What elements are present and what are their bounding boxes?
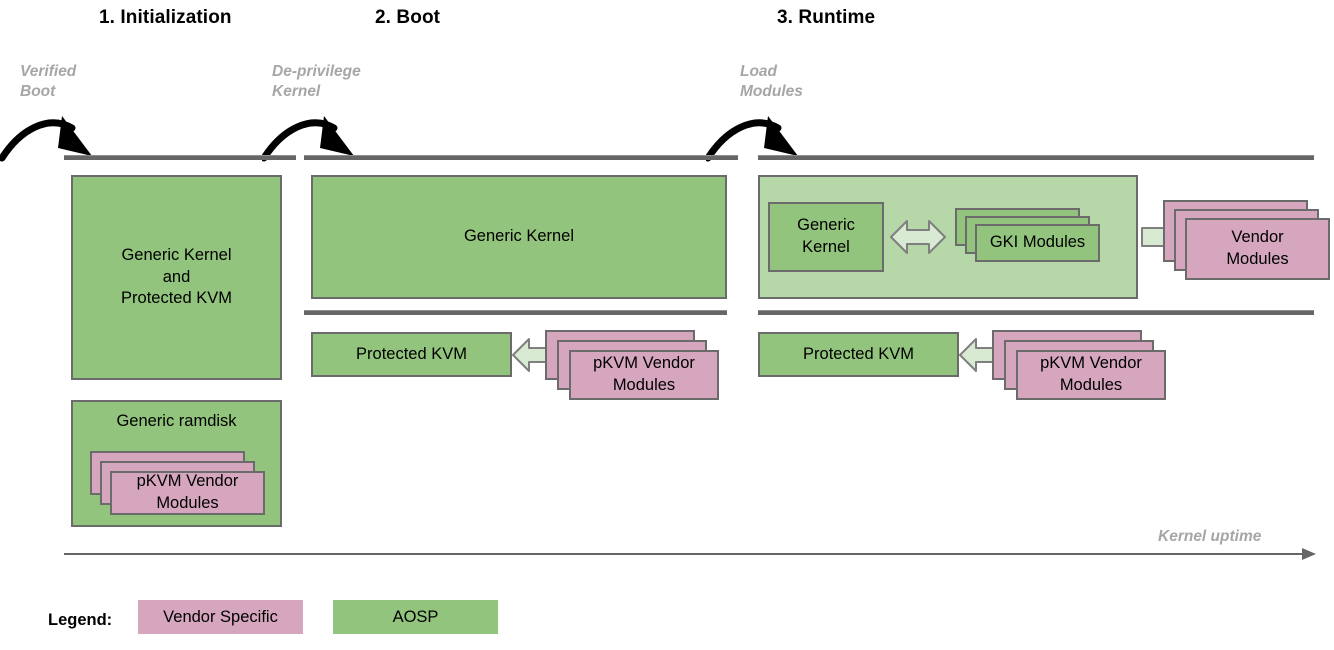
phase-title-boot: 2. Boot	[375, 7, 440, 29]
transition-label-verified-boot: Verified Boot	[20, 62, 130, 103]
transition-label-de-privilege-kernel: De-privilege Kernel	[272, 62, 402, 103]
stack-layer-front: pKVM Vendor Modules	[569, 350, 719, 400]
transition-label-load-modules: Load Modules	[740, 62, 850, 103]
phase-title-initialization: 1. Initialization	[99, 7, 232, 29]
separator-top-initialization	[64, 155, 296, 160]
legend-swatch-vendor-specific: Vendor Specific	[138, 600, 303, 634]
uptime-axis-arrow-icon	[64, 546, 1318, 562]
separator-mid-runtime	[758, 310, 1314, 315]
separator-mid-boot	[304, 310, 727, 315]
legend-title: Legend:	[48, 611, 112, 630]
block-boot-protected-kvm: Protected KVM	[311, 332, 512, 377]
stack-init-pkvm-vendor-modules: pKVM Vendor Modules	[90, 451, 265, 515]
stack-boot-pkvm-vendor-modules: pKVM Vendor Modules	[545, 330, 735, 400]
stack-runtime-vendor-modules: Vendor Modules	[1163, 200, 1334, 285]
block-generic-kernel-and-protected-kvm: Generic Kernel and Protected KVM	[71, 175, 282, 380]
block-generic-ramdisk-label: Generic ramdisk	[73, 412, 280, 431]
uptime-axis-label: Kernel uptime	[1158, 528, 1261, 546]
separator-top-runtime	[758, 155, 1314, 160]
block-boot-generic-kernel: Generic Kernel	[311, 175, 727, 299]
block-runtime-protected-kvm: Protected KVM	[758, 332, 959, 377]
diagram-canvas: 1. Initialization 2. Boot 3. Runtime Ver…	[0, 0, 1334, 650]
stack-layer-front: GKI Modules	[975, 224, 1100, 262]
legend-swatch-aosp: AOSP	[333, 600, 498, 634]
stack-layer-front: pKVM Vendor Modules	[1016, 350, 1166, 400]
stack-runtime-pkvm-vendor-modules: pKVM Vendor Modules	[992, 330, 1182, 400]
block-runtime-generic-kernel: Generic Kernel	[768, 202, 884, 272]
separator-top-boot	[304, 155, 738, 160]
stack-layer-front: Vendor Modules	[1185, 218, 1330, 280]
stack-layer-front: pKVM Vendor Modules	[110, 471, 265, 515]
phase-title-runtime: 3. Runtime	[777, 7, 875, 29]
stack-runtime-gki-modules: GKI Modules	[955, 208, 1115, 268]
